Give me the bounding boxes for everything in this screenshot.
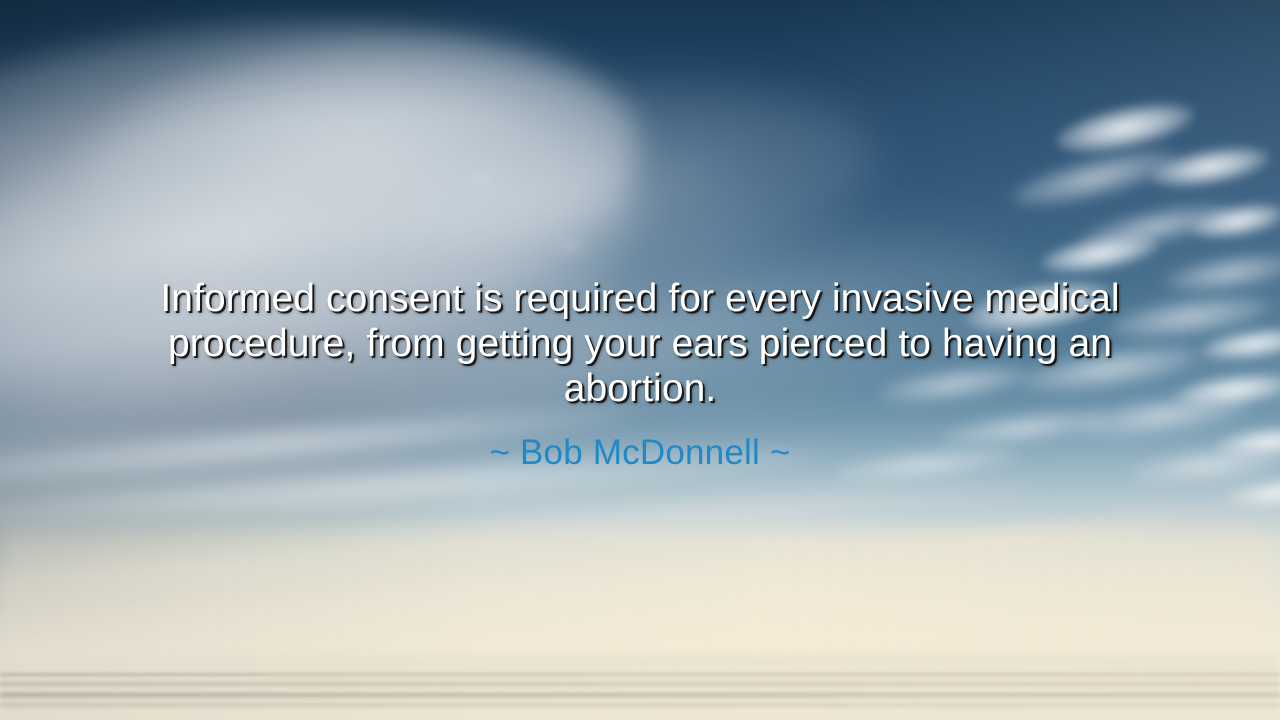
- quote-image-canvas: Informed consent is required for every i…: [0, 0, 1280, 720]
- quote-overlay: Informed consent is required for every i…: [0, 276, 1280, 473]
- ground-band-2: [0, 693, 1280, 697]
- quote-attribution: ~ Bob McDonnell ~: [0, 433, 1280, 473]
- quote-text: Informed consent is required for every i…: [140, 276, 1140, 411]
- ground-plain: [0, 676, 1280, 720]
- ground-band-1: [0, 682, 1280, 686]
- ground-band-3: [0, 703, 1280, 707]
